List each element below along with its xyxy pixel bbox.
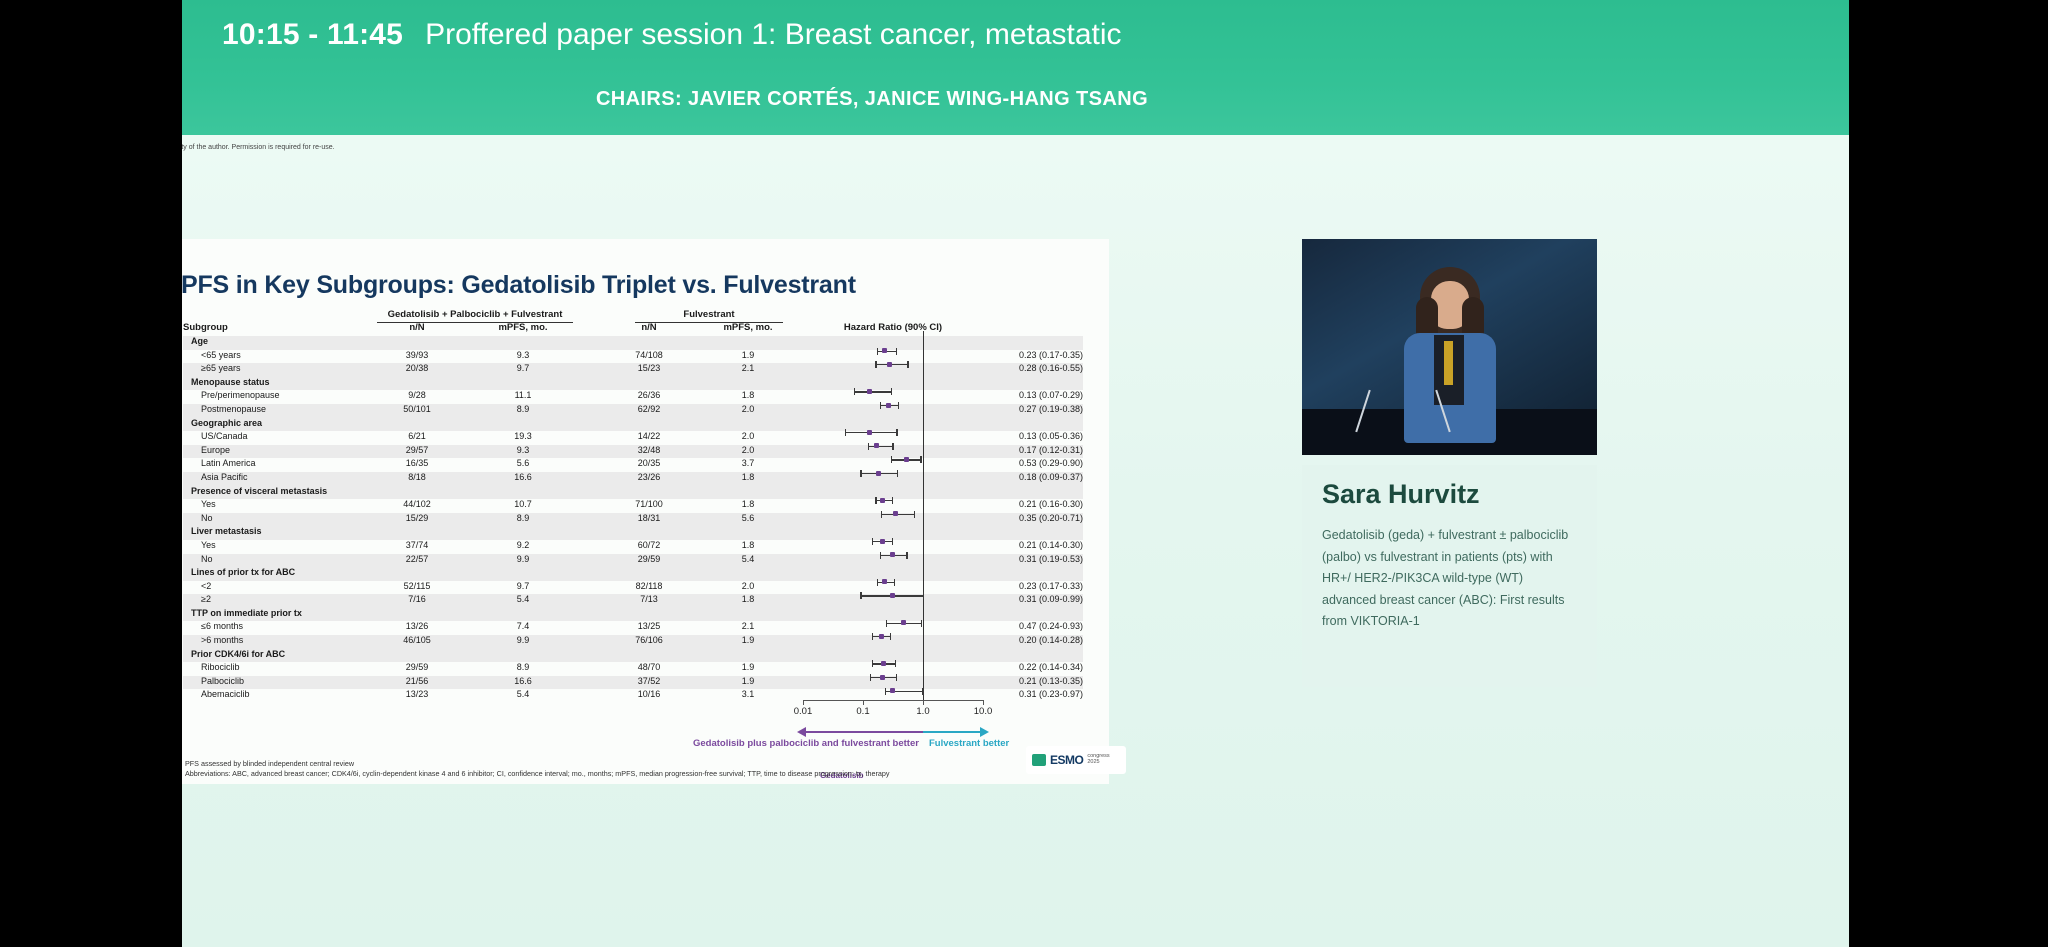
cell-mpfs2: 2.0 — [701, 431, 795, 441]
cell-mpfs1: 8.9 — [473, 513, 573, 523]
cell-hazard-ratio: 0.17 (0.12-0.31) — [943, 445, 1083, 455]
cell-n1: 13/23 — [377, 689, 457, 699]
broadcast-frame: 10:15 - 11:45 Proffered paper session 1:… — [182, 0, 1849, 947]
cell-subgroup: ≥65 years — [201, 363, 391, 373]
table-row: <252/1159.782/1182.00.23 (0.17-0.33) — [183, 581, 1083, 595]
cell-n1: 52/115 — [377, 581, 457, 591]
content-area: PFS in Key Subgroups: Gedatolisib Triple… — [182, 135, 1849, 947]
footnote-abbreviations: Abbreviations: ABC, advanced breast canc… — [185, 769, 1045, 779]
table-row: Pre/perimenopause9/2811.126/361.80.13 (0… — [183, 390, 1083, 404]
arrow-left-shaft — [805, 731, 923, 733]
table-section-row: Age — [183, 336, 1083, 350]
cell-mpfs2: 5.4 — [701, 554, 795, 564]
cell-mpfs1: 10.7 — [473, 499, 573, 509]
cell-n2: 15/23 — [609, 363, 689, 373]
group-header-arm1: Gedatolisib + Palbociclib + Fulvestrant — [377, 309, 573, 323]
arrow-right-label: Fulvestrant better — [929, 738, 1009, 749]
cell-subgroup: No — [201, 554, 391, 564]
table-section-row: Prior CDK4/6i for ABC — [183, 649, 1083, 663]
cell-hazard-ratio: 0.21 (0.13-0.35) — [943, 676, 1083, 686]
esmo-logo: ESMO congress 2025 — [1026, 746, 1126, 774]
cell-n2: 13/25 — [609, 621, 689, 631]
esmo-logo-name: ESMO — [1050, 753, 1083, 767]
cell-mpfs2: 5.6 — [701, 513, 795, 523]
speaker-info-panel: Sara Hurvitz Gedatolisib (geda) + fulves… — [1302, 465, 1597, 687]
cell-mpfs1: 9.9 — [473, 554, 573, 564]
cell-mpfs2: 2.1 — [701, 621, 795, 631]
cell-hazard-ratio: 0.20 (0.14-0.28) — [943, 635, 1083, 645]
session-chairs: CHAIRS: JAVIER CORTÉS, JANICE WING-HANG … — [182, 88, 1562, 111]
esmo-mark-icon — [1032, 754, 1046, 766]
cell-n2: 10/16 — [609, 689, 689, 699]
cell-subgroup: ≤6 months — [201, 621, 391, 631]
arrow-right-head — [980, 727, 989, 737]
cell-mpfs2: 2.0 — [701, 445, 795, 455]
cell-mpfs1: 9.7 — [473, 363, 573, 373]
direction-arrows: Gedatolisib plus palbociclib and fulvest… — [183, 727, 1083, 757]
section-label: Lines of prior tx for ABC — [191, 567, 381, 577]
cell-n1: 44/102 — [377, 499, 457, 509]
table-row: Yes37/749.260/721.80.21 (0.14-0.30) — [183, 540, 1083, 554]
table-row: US/Canada6/2119.314/222.00.13 (0.05-0.36… — [183, 431, 1083, 445]
cell-subgroup: <65 years — [201, 350, 391, 360]
table-row: No15/298.918/315.60.35 (0.20-0.71) — [183, 513, 1083, 527]
table-group-headers: Gedatolisib + Palbociclib + Fulvestrant … — [183, 309, 1083, 322]
footnote-pfs: PFS assessed by blinded independent cent… — [185, 759, 1045, 769]
arrow-right-shaft — [923, 731, 981, 733]
cell-hazard-ratio: 0.21 (0.16-0.30) — [943, 499, 1083, 509]
cell-n1: 16/35 — [377, 458, 457, 468]
cell-subgroup: Postmenopause — [201, 404, 391, 414]
table-row: Europe29/579.332/482.00.17 (0.12-0.31) — [183, 445, 1083, 459]
cell-n1: 6/21 — [377, 431, 457, 441]
cell-hazard-ratio: 0.31 (0.23-0.97) — [943, 689, 1083, 699]
cell-n2: 62/92 — [609, 404, 689, 414]
section-label: Prior CDK4/6i for ABC — [191, 649, 381, 659]
session-banner: 10:15 - 11:45 Proffered paper session 1:… — [182, 0, 1849, 135]
axis-baseline — [803, 700, 983, 701]
cell-n2: 37/52 — [609, 676, 689, 686]
cell-n2: 76/106 — [609, 635, 689, 645]
table-body: Age<65 years39/939.374/1081.90.23 (0.17-… — [183, 336, 1083, 703]
cell-n2: 60/72 — [609, 540, 689, 550]
cell-subgroup: Yes — [201, 540, 391, 550]
cell-mpfs1: 9.9 — [473, 635, 573, 645]
axis-tick — [803, 700, 804, 705]
cell-mpfs2: 1.8 — [701, 499, 795, 509]
section-label: Presence of visceral metastasis — [191, 486, 381, 496]
table-section-row: Presence of visceral metastasis — [183, 486, 1083, 500]
cell-hazard-ratio: 0.23 (0.17-0.35) — [943, 350, 1083, 360]
cell-hazard-ratio: 0.28 (0.16-0.55) — [943, 363, 1083, 373]
cell-n2: 29/59 — [609, 554, 689, 564]
table-row: Postmenopause50/1018.962/922.00.27 (0.19… — [183, 404, 1083, 418]
cell-subgroup: Asia Pacific — [201, 472, 391, 482]
cell-subgroup: Ribociclib — [201, 662, 391, 672]
speaker-name: Sara Hurvitz — [1322, 479, 1480, 510]
section-label: Menopause status — [191, 377, 381, 387]
table-row: Palbociclib21/5616.637/521.90.21 (0.13-0… — [183, 676, 1083, 690]
col-subgroup: Subgroup — [183, 322, 373, 333]
cell-hazard-ratio: 0.27 (0.19-0.38) — [943, 404, 1083, 414]
cell-n2: 26/36 — [609, 390, 689, 400]
cell-subgroup: ≥2 — [201, 594, 391, 604]
axis-tick-label: 1.0 — [916, 706, 929, 717]
cell-n2: 32/48 — [609, 445, 689, 455]
arrow-left-head — [797, 727, 806, 737]
cell-mpfs1: 5.6 — [473, 458, 573, 468]
cell-mpfs1: 8.9 — [473, 662, 573, 672]
cell-n1: 7/16 — [377, 594, 457, 604]
cell-n1: 22/57 — [377, 554, 457, 564]
cell-mpfs1: 5.4 — [473, 689, 573, 699]
cell-mpfs1: 19.3 — [473, 431, 573, 441]
slide-footnotes: PFS assessed by blinded independent cent… — [185, 759, 1045, 778]
cell-n1: 20/38 — [377, 363, 457, 373]
cell-mpfs2: 1.8 — [701, 472, 795, 482]
cell-subgroup: US/Canada — [201, 431, 391, 441]
cell-n2: 18/31 — [609, 513, 689, 523]
cell-n1: 13/26 — [377, 621, 457, 631]
cell-mpfs1: 11.1 — [473, 390, 573, 400]
cell-n2: 7/13 — [609, 594, 689, 604]
copyright-line: Content of this presentation is copyrigh… — [182, 144, 700, 151]
speaker-scarf — [1444, 341, 1453, 385]
session-time: 10:15 - 11:45 — [222, 18, 403, 52]
arrow-left-label: Gedatolisib plus palbociclib and fulvest… — [693, 738, 919, 749]
section-label: Age — [191, 336, 381, 346]
cell-hazard-ratio: 0.35 (0.20-0.71) — [943, 513, 1083, 523]
slide-title: PFS in Key Subgroups: Gedatolisib Triple… — [182, 271, 1081, 300]
arrow-right — [923, 727, 989, 737]
session-title: Proffered paper session 1: Breast cancer… — [425, 18, 1121, 52]
cell-n2: 71/100 — [609, 499, 689, 509]
cell-mpfs2: 1.8 — [701, 540, 795, 550]
cell-subgroup: >6 months — [201, 635, 391, 645]
cell-subgroup: Abemaciclib — [201, 689, 391, 699]
cell-n2: 48/70 — [609, 662, 689, 672]
cell-mpfs2: 3.1 — [701, 689, 795, 699]
table-section-row: Geographic area — [183, 418, 1083, 432]
cell-mpfs1: 7.4 — [473, 621, 573, 631]
cell-n1: 50/101 — [377, 404, 457, 414]
subgroup-table: Gedatolisib + Palbociclib + Fulvestrant … — [183, 309, 1083, 703]
table-section-row: Menopause status — [183, 377, 1083, 391]
table-row: Ribociclib29/598.948/701.90.22 (0.14-0.3… — [183, 662, 1083, 676]
cell-n1: 37/74 — [377, 540, 457, 550]
cell-mpfs2: 2.1 — [701, 363, 795, 373]
cell-subgroup: Yes — [201, 499, 391, 509]
cell-hazard-ratio: 0.31 (0.09-0.99) — [943, 594, 1083, 604]
cell-mpfs1: 9.2 — [473, 540, 573, 550]
cell-mpfs2: 3.7 — [701, 458, 795, 468]
cell-hazard-ratio: 0.18 (0.09-0.37) — [943, 472, 1083, 482]
cell-mpfs2: 1.8 — [701, 390, 795, 400]
col-mpfs1: mPFS, mo. — [473, 322, 573, 333]
cell-n2: 20/35 — [609, 458, 689, 468]
table-section-row: TTP on immediate prior tx — [183, 608, 1083, 622]
table-section-row: Lines of prior tx for ABC — [183, 567, 1083, 581]
cell-n1: 8/18 — [377, 472, 457, 482]
cell-hazard-ratio: 0.22 (0.14-0.34) — [943, 662, 1083, 672]
section-label: TTP on immediate prior tx — [191, 608, 381, 618]
col-hazard-ratio: Hazard Ratio (90% CI) — [803, 322, 983, 333]
cell-mpfs2: 1.9 — [701, 350, 795, 360]
table-column-headers: Subgroup n/N mPFS, mo. n/N mPFS, mo. Haz… — [183, 322, 1083, 336]
cell-subgroup: Europe — [201, 445, 391, 455]
cell-mpfs2: 1.9 — [701, 676, 795, 686]
cell-n1: 29/59 — [377, 662, 457, 672]
axis-tick — [923, 700, 924, 705]
cell-hazard-ratio: 0.13 (0.07-0.29) — [943, 390, 1083, 400]
session-header-row: 10:15 - 11:45 Proffered paper session 1:… — [222, 18, 1122, 52]
speaker-talk-description: Gedatolisib (geda) + fulvestrant ± palbo… — [1322, 525, 1578, 633]
table-row: ≤6 months13/267.413/252.10.47 (0.24-0.93… — [183, 621, 1083, 635]
cell-hazard-ratio: 0.13 (0.05-0.36) — [943, 431, 1083, 441]
axis-tick-label: 0.01 — [794, 706, 813, 717]
col-n1: n/N — [377, 322, 457, 333]
cell-n1: 46/105 — [377, 635, 457, 645]
cell-hazard-ratio: 0.53 (0.29-0.90) — [943, 458, 1083, 468]
table-row: Asia Pacific8/1816.623/261.80.18 (0.09-0… — [183, 472, 1083, 486]
speaker-figure — [1398, 267, 1502, 455]
cell-n2: 14/22 — [609, 431, 689, 441]
cell-mpfs1: 5.4 — [473, 594, 573, 604]
cell-mpfs1: 9.7 — [473, 581, 573, 591]
col-n2: n/N — [609, 322, 689, 333]
cell-n1: 15/29 — [377, 513, 457, 523]
cell-mpfs2: 2.0 — [701, 404, 795, 414]
cell-n1: 39/93 — [377, 350, 457, 360]
cell-hazard-ratio: 0.47 (0.24-0.93) — [943, 621, 1083, 631]
cell-n1: 9/28 — [377, 390, 457, 400]
cell-n1: 21/56 — [377, 676, 457, 686]
cell-mpfs1: 16.6 — [473, 472, 573, 482]
table-row: Yes44/10210.771/1001.80.21 (0.16-0.30) — [183, 499, 1083, 513]
speaker-video[interactable] — [1302, 239, 1597, 455]
table-row: <65 years39/939.374/1081.90.23 (0.17-0.3… — [183, 350, 1083, 364]
table-section-row: Liver metastasis — [183, 526, 1083, 540]
table-row: ≥27/165.47/131.80.31 (0.09-0.99) — [183, 594, 1083, 608]
hazard-ratio-axis: 0.010.11.010.0 — [183, 700, 1083, 730]
axis-tick-label: 10.0 — [974, 706, 993, 717]
arrow-left — [797, 727, 923, 737]
cell-subgroup: No — [201, 513, 391, 523]
cell-n1: 29/57 — [377, 445, 457, 455]
cell-mpfs1: 8.9 — [473, 404, 573, 414]
col-mpfs2: mPFS, mo. — [701, 322, 795, 333]
cell-subgroup: <2 — [201, 581, 391, 591]
group-header-arm2: Fulvestrant — [635, 309, 783, 323]
cell-hazard-ratio: 0.23 (0.17-0.33) — [943, 581, 1083, 591]
cell-subgroup: Palbociclib — [201, 676, 391, 686]
cell-subgroup: Latin America — [201, 458, 391, 468]
cell-mpfs1: 9.3 — [473, 445, 573, 455]
cell-hazard-ratio: 0.31 (0.19-0.53) — [943, 554, 1083, 564]
axis-tick — [983, 700, 984, 705]
cell-n2: 74/108 — [609, 350, 689, 360]
cell-n2: 23/26 — [609, 472, 689, 482]
table-row: ≥65 years20/389.715/232.10.28 (0.16-0.55… — [183, 363, 1083, 377]
cell-mpfs1: 9.3 — [473, 350, 573, 360]
presenter-line: Presenter: Sara A. Hurvitz, MD, FACP — [182, 135, 700, 144]
table-row: >6 months46/1059.976/1061.90.20 (0.14-0.… — [183, 635, 1083, 649]
cell-mpfs1: 16.6 — [473, 676, 573, 686]
cell-n2: 82/118 — [609, 581, 689, 591]
cell-hazard-ratio: 0.21 (0.14-0.30) — [943, 540, 1083, 550]
cell-subgroup: Pre/perimenopause — [201, 390, 391, 400]
esmo-logo-meta: congress 2025 — [1087, 754, 1109, 766]
table-row: No22/579.929/595.40.31 (0.19-0.53) — [183, 554, 1083, 568]
broadcast-screen: 10:15 - 11:45 Proffered paper session 1:… — [0, 0, 2048, 947]
section-label: Liver metastasis — [191, 526, 381, 536]
section-label: Geographic area — [191, 418, 381, 428]
presentation-slide: PFS in Key Subgroups: Gedatolisib Triple… — [182, 135, 700, 151]
cell-mpfs2: 1.9 — [701, 635, 795, 645]
axis-tick — [863, 700, 864, 705]
table-row: Latin America16/355.620/353.70.53 (0.29-… — [183, 458, 1083, 472]
cell-mpfs2: 1.9 — [701, 662, 795, 672]
axis-tick-label: 0.1 — [856, 706, 869, 717]
esmo-logo-year: 2025 — [1087, 760, 1109, 766]
cell-mpfs2: 1.8 — [701, 594, 795, 604]
cell-mpfs2: 2.0 — [701, 581, 795, 591]
